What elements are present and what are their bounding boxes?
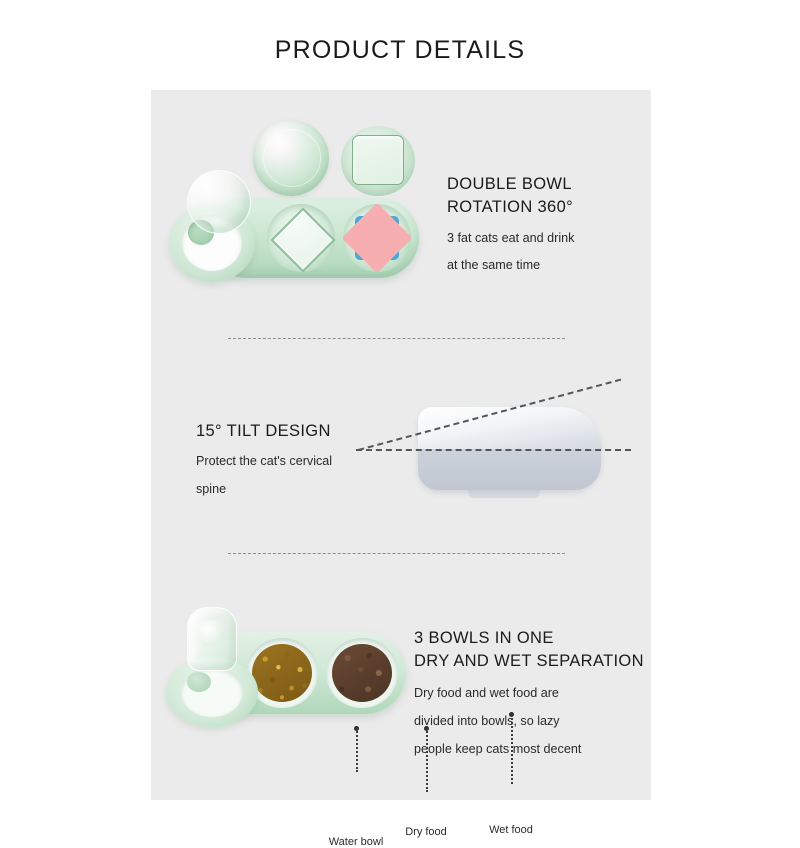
section-one-headline-line1: DOUBLE BOWL: [447, 173, 574, 196]
bowl-well-middle: [267, 204, 335, 272]
section-three-subtext-line1: Dry food and wet food are: [414, 684, 644, 702]
glass-bottle-sphere: [187, 170, 251, 234]
callout-label-wet-food: Wet food: [489, 824, 533, 836]
wet-food-content: [332, 644, 392, 702]
callout-leader-line: [511, 714, 513, 784]
section-divider-2: [228, 553, 565, 554]
square-dish-part: [341, 126, 415, 196]
section-three-headline-line2: DRY AND WET SEPARATION: [414, 650, 644, 673]
section-one-subtext-line1: 3 fat cats eat and drink: [447, 229, 574, 247]
page-title: PRODUCT DETAILS: [0, 36, 800, 65]
section-one-subtext-line2: at the same time: [447, 256, 574, 274]
section-divider-1: [228, 338, 565, 339]
pink-diamond-graphic: [342, 203, 413, 274]
callout-label-dry-food: Dry food: [405, 826, 447, 838]
section-one-headline-line2: ROTATION 360°: [447, 196, 574, 219]
tilt-angle-diagram: [356, 375, 631, 505]
section-three-subtext-line3: people keep cats most decent: [414, 740, 644, 758]
water-bottle: [187, 607, 237, 671]
content-panel: DOUBLE BOWL ROTATION 360° 3 fat cats eat…: [151, 90, 651, 800]
section-three-subtext-line2: divided into bowls, so lazy: [414, 712, 644, 730]
wet-food-bowl: [326, 638, 398, 708]
callout-label-water-bowl: Water bowl: [329, 836, 384, 848]
section-two-subtext-line1: Protect the cat's cervical: [196, 452, 332, 470]
section-three-headline-line1: 3 BOWLS IN ONE: [414, 627, 644, 650]
bowl-well-right: [343, 204, 411, 272]
callout-leader-line: [426, 728, 428, 792]
square-insert: [352, 135, 404, 185]
water-bowl-hole: [187, 672, 211, 692]
section-two-subtext-line2: spine: [196, 480, 332, 498]
dome-lid-part: [253, 120, 329, 196]
section-tilt-text: 15° TILT DESIGN Protect the cat's cervic…: [196, 420, 332, 498]
callout-leader-line: [356, 728, 358, 772]
dry-food-kibble: [252, 644, 312, 702]
rotating-square-frame: [270, 207, 335, 272]
tilt-horizontal-dashed-line: [356, 449, 631, 451]
double-bowl-exploded-photo: [169, 118, 429, 308]
three-bowls-photo: [166, 605, 416, 730]
section-two-headline-line1: 15° TILT DESIGN: [196, 420, 332, 443]
section-three-bowls-text: 3 BOWLS IN ONE DRY AND WET SEPARATION Dr…: [414, 627, 644, 759]
section-double-bowl-text: DOUBLE BOWL ROTATION 360° 3 fat cats eat…: [447, 173, 574, 274]
